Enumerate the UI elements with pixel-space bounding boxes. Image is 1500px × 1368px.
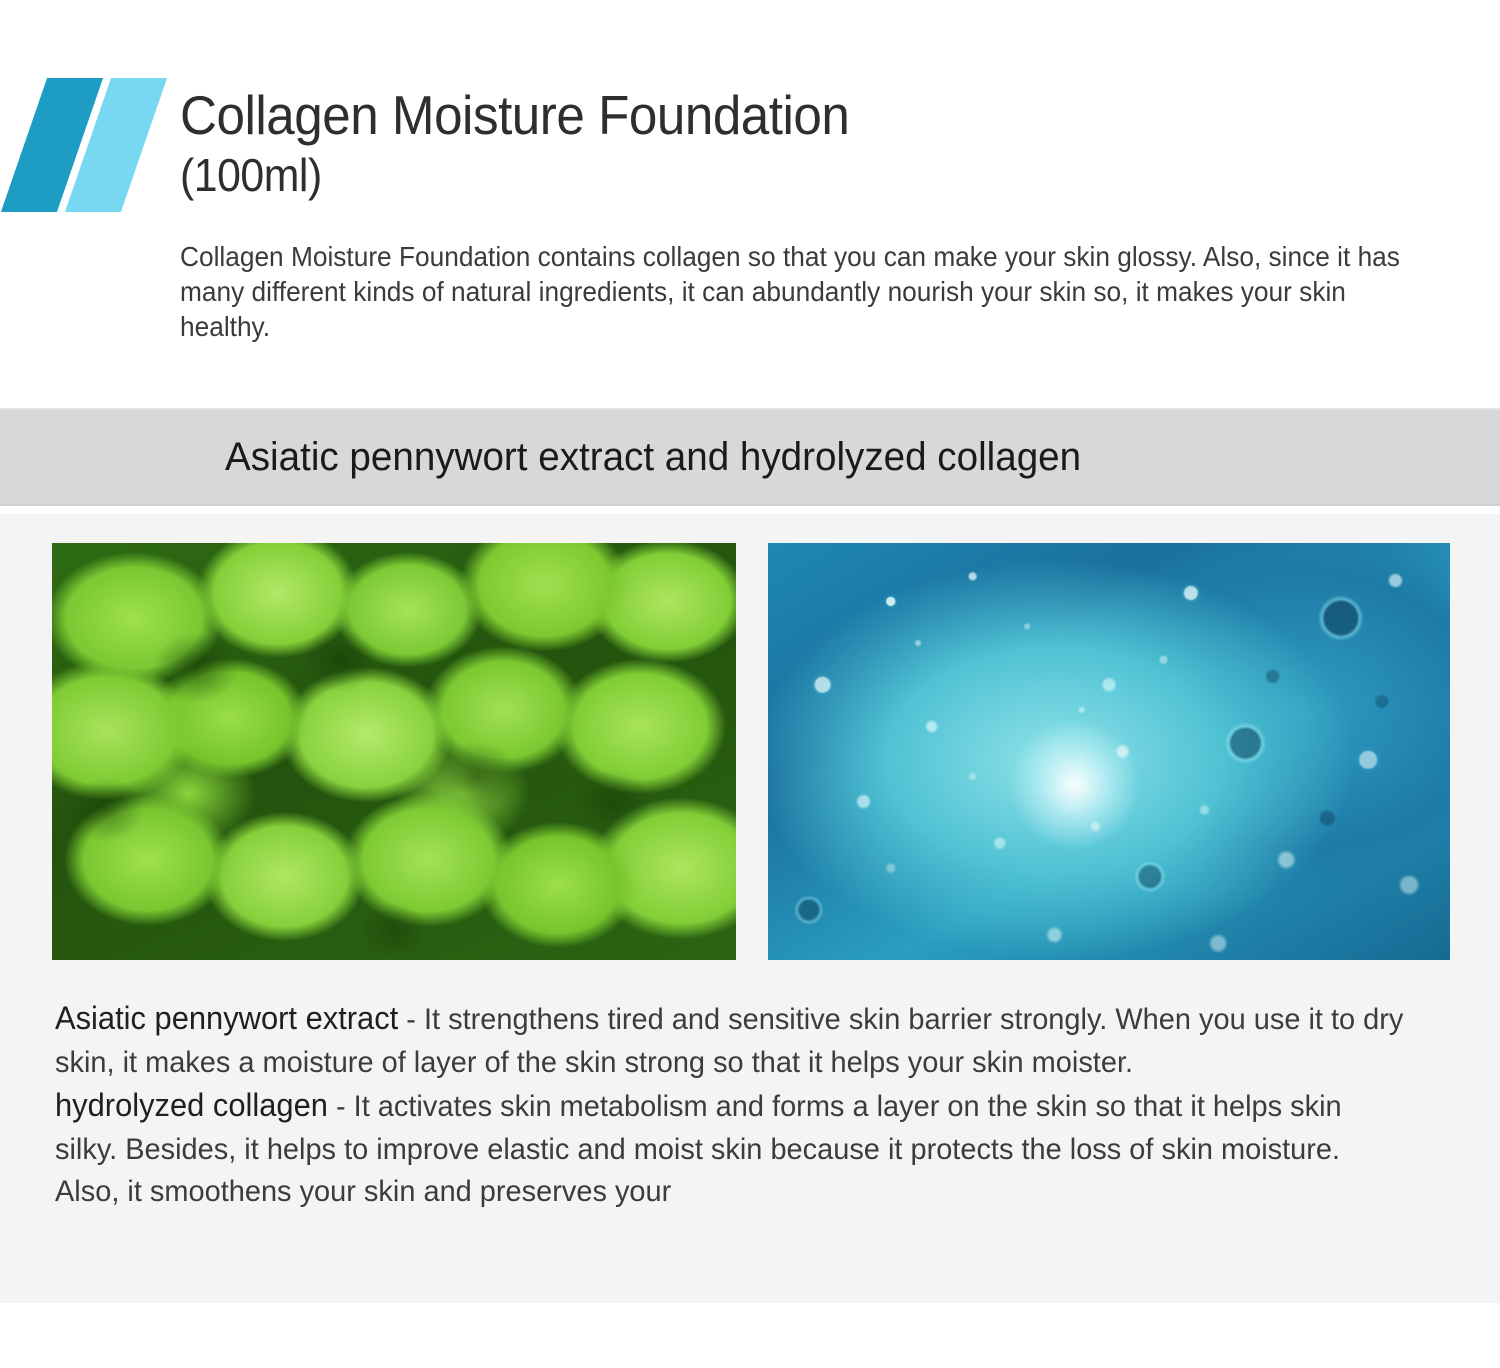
leaf-photo-canvas [52,543,736,960]
asiatic-pennywort-leaves-photo [52,543,736,960]
water-photo-canvas [768,543,1450,960]
ingredient-paragraph-pennywort: Asiatic pennywort extract - It strengthe… [55,997,1406,1084]
ingredient-banner-heading: Asiatic pennywort extract and hydrolyzed… [225,434,1081,480]
product-description: Collagen Moisture Foundation contains co… [180,239,1426,344]
underwater-bubbles-photo [768,543,1450,960]
ingredient-paragraph-collagen: hydrolyzed collagen - It activates skin … [55,1084,1406,1214]
ingredient-banner: Asiatic pennywort extract and hydrolyzed… [0,408,1500,506]
ingredient-name-pennywort: Asiatic pennywort extract [55,1000,398,1036]
product-volume: (100ml) [180,146,1389,204]
product-detail-page: Collagen Moisture Foundation (100ml) Col… [0,0,1500,1368]
ingredient-detail-panel: Asiatic pennywort extract - It strengthe… [0,514,1500,1303]
brand-slash-logo-icon [0,78,160,218]
ingredient-image-row [52,543,1450,960]
page-title: Collagen Moisture Foundation (100ml) [180,84,1389,204]
product-name: Collagen Moisture Foundation [180,84,849,146]
ingredient-separator: - [328,1090,354,1123]
hero-section: Collagen Moisture Foundation (100ml) Col… [0,0,1500,408]
ingredient-name-collagen: hydrolyzed collagen [55,1087,328,1123]
ingredient-descriptions: Asiatic pennywort extract - It strengthe… [55,997,1455,1214]
ingredient-separator: - [398,1003,424,1036]
